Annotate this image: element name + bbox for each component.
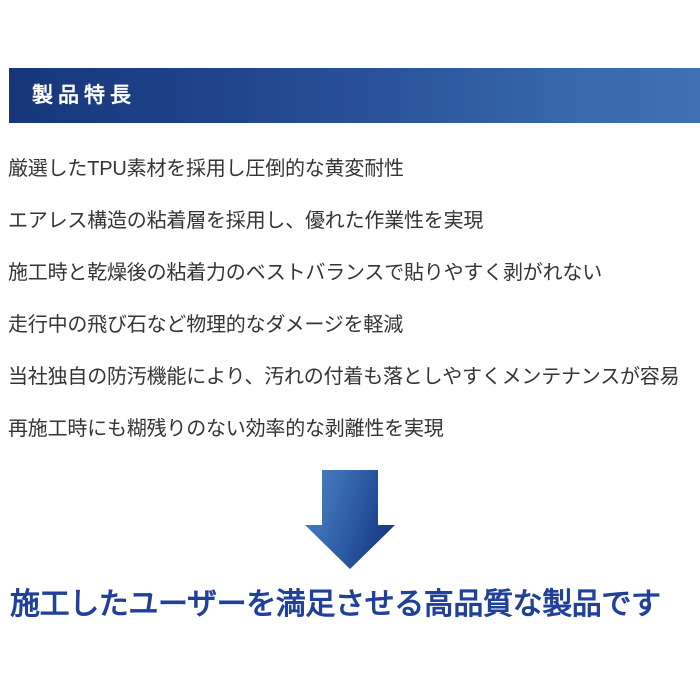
section-header-bar: 製品特長 (9, 68, 700, 123)
feature-list-item: 走行中の飛び石など物理的なダメージを軽減 (8, 299, 696, 351)
section-header-title: 製品特長 (32, 85, 136, 106)
feature-list-item: 再施工時にも糊残りのない効率的な剥離性を実現 (8, 403, 696, 455)
arrow-down-icon (304, 469, 396, 570)
conclusion-headline: 施工したユーザーを満足させる高品質な製品です (10, 583, 700, 627)
feature-list: 厳選したTPU素材を採用し圧倒的な黄変耐性 エアレス構造の粘着層を採用し、優れた… (8, 143, 696, 455)
feature-list-item: 施工時と乾燥後の粘着力のベストバランスで貼りやすく剥がれない (8, 247, 696, 299)
feature-list-item: 当社独自の防汚機能により、汚れの付着も落としやすくメンテナンスが容易 (8, 351, 696, 403)
feature-list-item: 厳選したTPU素材を採用し圧倒的な黄変耐性 (8, 143, 696, 195)
feature-list-item: エアレス構造の粘着層を採用し、優れた作業性を実現 (8, 195, 696, 247)
product-features-page: 製品特長 厳選したTPU素材を採用し圧倒的な黄変耐性 エアレス構造の粘着層を採用… (0, 0, 700, 700)
